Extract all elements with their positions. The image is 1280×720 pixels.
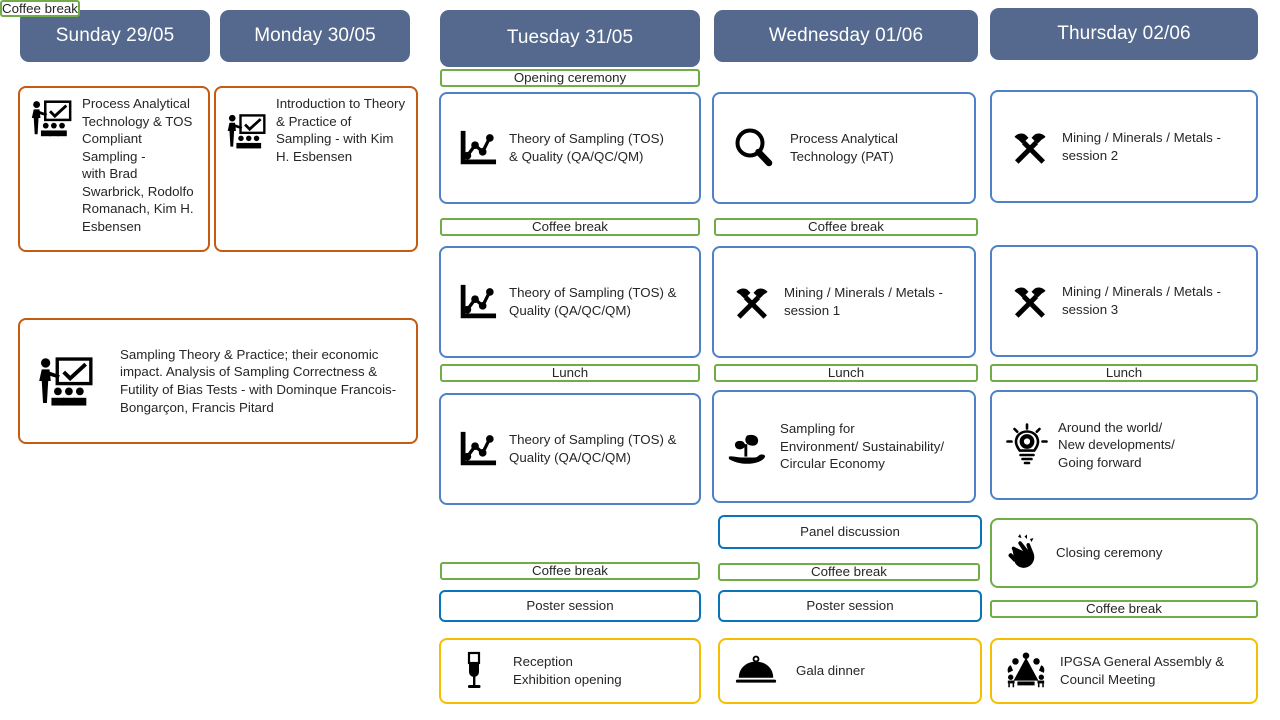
day-header-label: Sunday 29/05 [56, 26, 174, 47]
break-label: Opening ceremony [514, 71, 626, 84]
workshop-label: Sampling Theory & Practice; their econom… [120, 346, 408, 416]
poster-session-label: Poster session [526, 599, 613, 612]
crossed-hammers-icon [730, 280, 774, 324]
social-card-gala-dinner[interactable]: Gala dinner [718, 638, 982, 704]
day-header-label: Thursday 02/06 [1057, 24, 1190, 45]
break-label: Lunch [1106, 366, 1142, 379]
round-table-meeting-icon [1004, 651, 1048, 691]
day-header-label: Monday 30/05 [254, 26, 376, 47]
presenter-training-icon [224, 109, 268, 153]
crossed-hammers-icon [1008, 279, 1052, 323]
panel-discussion-label: Panel discussion [800, 525, 900, 538]
break-label: Coffee break [532, 564, 608, 577]
session-card-pat[interactable]: Process Analytical Technology (PAT) [712, 92, 976, 204]
presenter-training-icon [34, 350, 96, 412]
break-strip-lunch-tue[interactable]: Lunch [440, 364, 700, 382]
session-label: Process Analytical Technology (PAT) [790, 130, 966, 165]
break-strip-coffee-wed-1[interactable]: Coffee break [714, 218, 978, 236]
workshop-label: Process Analytical Technology & TOS Comp… [82, 95, 200, 235]
workshop-label: Introduction to Theory & Practice of Sam… [276, 95, 408, 165]
day-header-thursday: Thursday 02/06 [990, 8, 1258, 60]
break-label: Coffee break [532, 220, 608, 233]
poster-session-label: Poster session [806, 599, 893, 612]
break-strip-coffee-thu-2[interactable]: Coffee break [990, 600, 1258, 618]
session-label: Theory of Sampling (TOS) & Quality (QA/Q… [509, 130, 691, 165]
day-header-monday: Monday 30/05 [220, 10, 410, 62]
break-label: Coffee break [2, 2, 78, 15]
workshop-card-sunday[interactable]: Process Analytical Technology & TOS Comp… [18, 86, 210, 252]
session-card-tos-quality-1[interactable]: Theory of Sampling (TOS) & Quality (QA/Q… [439, 92, 701, 204]
panel-discussion-wednesday[interactable]: Panel discussion [718, 515, 982, 549]
day-header-tuesday: Tuesday 31/05 [440, 10, 700, 67]
session-card-mining-3[interactable]: Mining / Minerals / Metals - session 3 [990, 245, 1258, 357]
assembly-card-ipgsa[interactable]: IPGSA General Assembly & Council Meeting [990, 638, 1258, 704]
session-label: Mining / Minerals / Metals - session 1 [784, 284, 966, 319]
break-strip-coffee-tue-1[interactable]: Coffee break [440, 218, 700, 236]
break-label: Lunch [828, 366, 864, 379]
break-strip-lunch-thu[interactable]: Lunch [990, 364, 1258, 382]
session-card-tos-quality-3[interactable]: Theory of Sampling (TOS) & Quality (QA/Q… [439, 393, 701, 505]
workshop-card-monday[interactable]: Introduction to Theory & Practice of Sam… [214, 86, 418, 252]
session-card-mining-2[interactable]: Mining / Minerals / Metals - session 2 [990, 90, 1258, 203]
champagne-glass-icon [457, 651, 491, 691]
break-strip-coffee-thu-1[interactable]: Coffee break [0, 0, 80, 17]
poster-session-tuesday[interactable]: Poster session [439, 590, 701, 622]
session-label: Theory of Sampling (TOS) & Quality (QA/Q… [509, 284, 691, 319]
session-label: Sampling for Environment/ Sustainability… [780, 420, 966, 473]
poster-session-wednesday[interactable]: Poster session [718, 590, 982, 622]
line-chart-icon [455, 127, 497, 169]
day-header-label: Wednesday 01/06 [769, 26, 923, 47]
day-header-sunday: Sunday 29/05 [20, 10, 210, 62]
cloche-dinner-icon [734, 654, 778, 688]
lightbulb-gear-icon [1004, 422, 1050, 468]
session-label: Around the world/ New developments/ Goin… [1058, 419, 1248, 472]
break-label: Coffee break [1086, 602, 1162, 615]
clapping-hands-icon [1004, 533, 1042, 573]
magnifying-glass-icon [732, 126, 776, 170]
session-card-environment[interactable]: Sampling for Environment/ Sustainability… [712, 390, 976, 503]
closing-ceremony-label: Closing ceremony [1056, 544, 1248, 562]
assembly-label: IPGSA General Assembly & Council Meeting [1060, 653, 1248, 688]
session-label: Mining / Minerals / Metals - session 2 [1062, 129, 1248, 164]
break-label: Coffee break [808, 220, 884, 233]
plant-in-hand-icon [726, 425, 772, 469]
session-label: Mining / Minerals / Metals - session 3 [1062, 283, 1248, 318]
line-chart-icon [455, 281, 497, 323]
break-label: Coffee break [811, 565, 887, 578]
day-header-label: Tuesday 31/05 [507, 28, 633, 49]
session-card-around-the-world[interactable]: Around the world/ New developments/ Goin… [990, 390, 1258, 500]
break-strip-opening-ceremony[interactable]: Opening ceremony [440, 69, 700, 87]
presenter-training-icon [28, 95, 74, 141]
day-header-wednesday: Wednesday 01/06 [714, 10, 978, 62]
break-strip-lunch-wed[interactable]: Lunch [714, 364, 978, 382]
social-label: Reception Exhibition opening [513, 653, 691, 688]
break-strip-coffee-tue-2[interactable]: Coffee break [440, 562, 700, 580]
social-card-reception[interactable]: Reception Exhibition opening [439, 638, 701, 704]
session-card-tos-quality-2[interactable]: Theory of Sampling (TOS) & Quality (QA/Q… [439, 246, 701, 358]
session-label: Theory of Sampling (TOS) & Quality (QA/Q… [509, 431, 691, 466]
line-chart-icon [455, 428, 497, 470]
session-card-mining-1[interactable]: Mining / Minerals / Metals - session 1 [712, 246, 976, 358]
social-label: Gala dinner [796, 662, 972, 680]
workshop-card-wide[interactable]: Sampling Theory & Practice; their econom… [18, 318, 418, 444]
closing-ceremony-card[interactable]: Closing ceremony [990, 518, 1258, 588]
break-label: Lunch [552, 366, 588, 379]
crossed-hammers-icon [1008, 125, 1052, 169]
break-strip-coffee-wed-2[interactable]: Coffee break [718, 563, 980, 581]
